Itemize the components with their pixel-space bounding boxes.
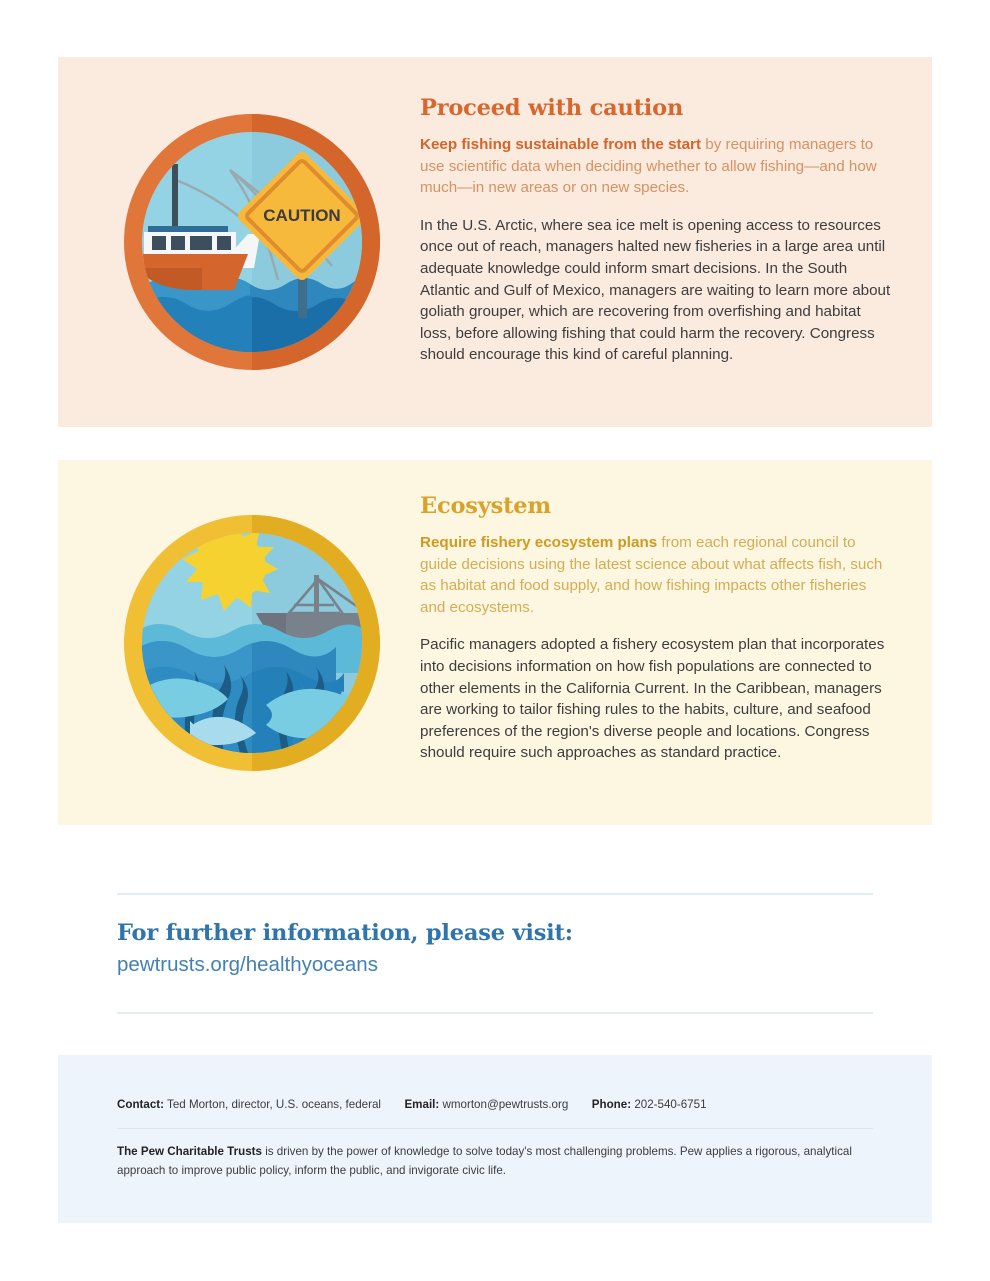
section-panel-ecosystem: Ecosystem Require fishery ecosystem plan… — [58, 460, 932, 825]
further-information-block: For further information, please visit: p… — [117, 920, 877, 978]
contact-line: Contact: Ted Morton, director, U.S. ocea… — [117, 1097, 873, 1113]
caution-body: In the U.S. Arctic, where sea ice melt i… — [420, 215, 895, 366]
email-label: Email: — [404, 1098, 439, 1111]
page-title-ecosystem: Ecosystem — [420, 493, 895, 519]
divider-above-further-info — [117, 893, 873, 895]
section-panel-caution: CAUTION Proceed with caution Keep fishin… — [58, 57, 932, 427]
ocean-ecosystem-fish-sun-badge-icon — [118, 509, 386, 777]
divider-footer — [117, 1128, 873, 1129]
fishing-boat-caution-sign-badge-icon: CAUTION — [118, 108, 386, 376]
phone-label: Phone: — [592, 1098, 631, 1111]
ecosystem-text-column: Ecosystem Require fishery ecosystem plan… — [420, 493, 895, 764]
phone-value: 202-540-6751 — [634, 1098, 706, 1111]
pewtrusts-healthyoceans-link[interactable]: pewtrusts.org/healthyoceans — [117, 952, 877, 978]
about-pew-paragraph: The Pew Charitable Trusts is driven by t… — [117, 1143, 877, 1180]
about-pew-bold: The Pew Charitable Trusts — [117, 1145, 262, 1158]
infographic-page: CAUTION Proceed with caution Keep fishin… — [0, 0, 990, 1281]
divider-below-further-info — [117, 1012, 873, 1014]
caution-lede: Keep fishing sustainable from the start … — [420, 134, 895, 199]
caution-sign-label: CAUTION — [263, 206, 340, 225]
page-title-caution: Proceed with caution — [420, 95, 895, 121]
contact-label: Contact: — [117, 1098, 164, 1111]
ecosystem-lede: Require fishery ecosystem plans from eac… — [420, 532, 895, 618]
contact-value: Ted Morton, director, U.S. oceans, feder… — [167, 1098, 381, 1111]
footer-panel: Contact: Ted Morton, director, U.S. ocea… — [58, 1055, 932, 1223]
ecosystem-body: Pacific managers adopted a fishery ecosy… — [420, 634, 895, 764]
further-info-title: For further information, please visit: — [117, 920, 877, 946]
caution-lede-bold: Keep fishing sustainable from the start — [420, 136, 701, 153]
email-value[interactable]: wmorton@pewtrusts.org — [442, 1098, 568, 1111]
caution-text-column: Proceed with caution Keep fishing sustai… — [420, 95, 895, 366]
ecosystem-lede-bold: Require fishery ecosystem plans — [420, 534, 657, 551]
